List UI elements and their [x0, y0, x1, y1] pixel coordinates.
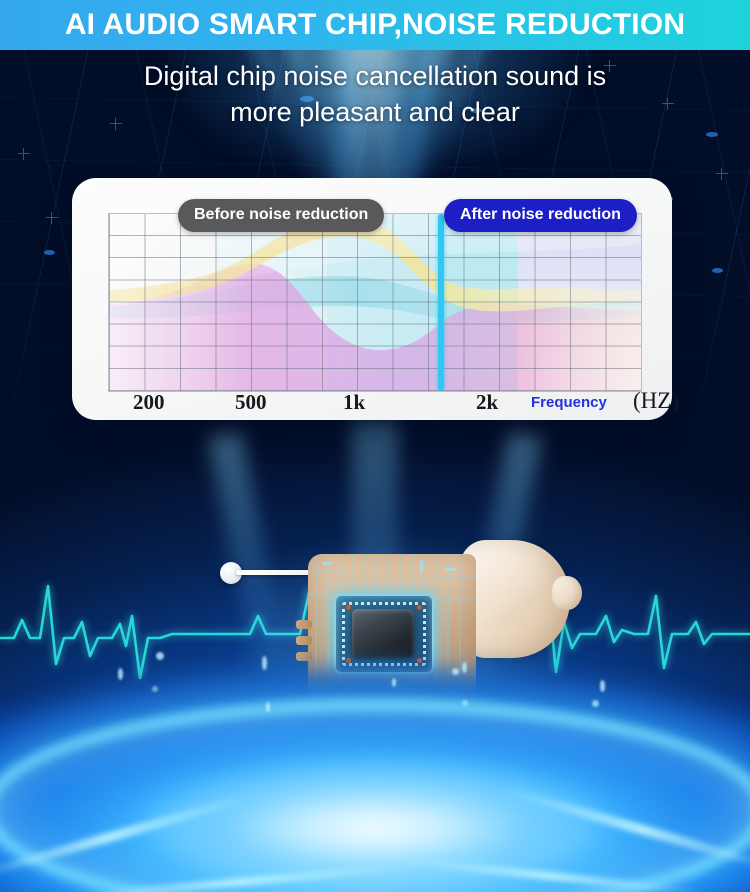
- before-after-divider: [438, 214, 444, 391]
- floating-dot: [462, 700, 468, 706]
- page-title: AI AUDIO SMART CHIP,NOISE REDUCTION: [65, 8, 685, 42]
- chip-screw: [346, 605, 351, 610]
- floating-dot: [592, 700, 599, 707]
- subtitle-block: Digital chip noise cancellation sound is…: [0, 58, 750, 130]
- axis-tick-2k: 2k: [476, 390, 498, 415]
- chart-plot-area: [108, 213, 642, 392]
- background-cross-marker: [46, 212, 58, 224]
- subtitle-line-1: Digital chip noise cancellation sound is: [0, 58, 750, 94]
- floating-dot: [452, 668, 459, 675]
- chart-x-axis: 200 500 1k 2k Frequency (HZ): [108, 390, 678, 416]
- device-pull-wire: [236, 570, 312, 575]
- background-node: [44, 250, 55, 255]
- portal-spark: [462, 662, 467, 673]
- portal-spark: [266, 702, 270, 712]
- product-banner-page: AI AUDIO SMART CHIP,NOISE REDUCTION Digi…: [0, 0, 750, 892]
- bottom-portal: [0, 644, 750, 892]
- frequency-chart-card: Before noise reduction After noise reduc…: [72, 178, 672, 420]
- axis-tick-500: 500: [235, 390, 267, 415]
- axis-tick-1k: 1k: [343, 390, 365, 415]
- portal-spark: [118, 668, 123, 680]
- portal-spark: [600, 680, 605, 692]
- axis-tick-200: 200: [133, 390, 165, 415]
- device-ear-tip: [552, 576, 582, 610]
- subtitle-line-2: more pleasant and clear: [0, 94, 750, 130]
- chip-screw: [417, 605, 422, 610]
- chart-grid: [109, 214, 641, 391]
- background-node: [706, 132, 718, 137]
- floating-dot: [156, 652, 164, 660]
- device-battery-contact: [296, 620, 312, 629]
- axis-unit-hz: (HZ): [633, 388, 679, 414]
- portal-core-light: [140, 762, 610, 882]
- axis-label-frequency: Frequency: [531, 394, 607, 411]
- background-cross-marker: [18, 148, 30, 160]
- header-banner: AI AUDIO SMART CHIP,NOISE REDUCTION: [0, 0, 750, 50]
- badge-before-noise-reduction[interactable]: Before noise reduction: [178, 199, 384, 232]
- portal-spark: [392, 678, 396, 687]
- floating-dot: [152, 686, 158, 692]
- portal-spark: [262, 656, 267, 670]
- background-cross-marker: [716, 168, 728, 180]
- badge-after-noise-reduction[interactable]: After noise reduction: [444, 199, 637, 232]
- background-node: [712, 268, 723, 273]
